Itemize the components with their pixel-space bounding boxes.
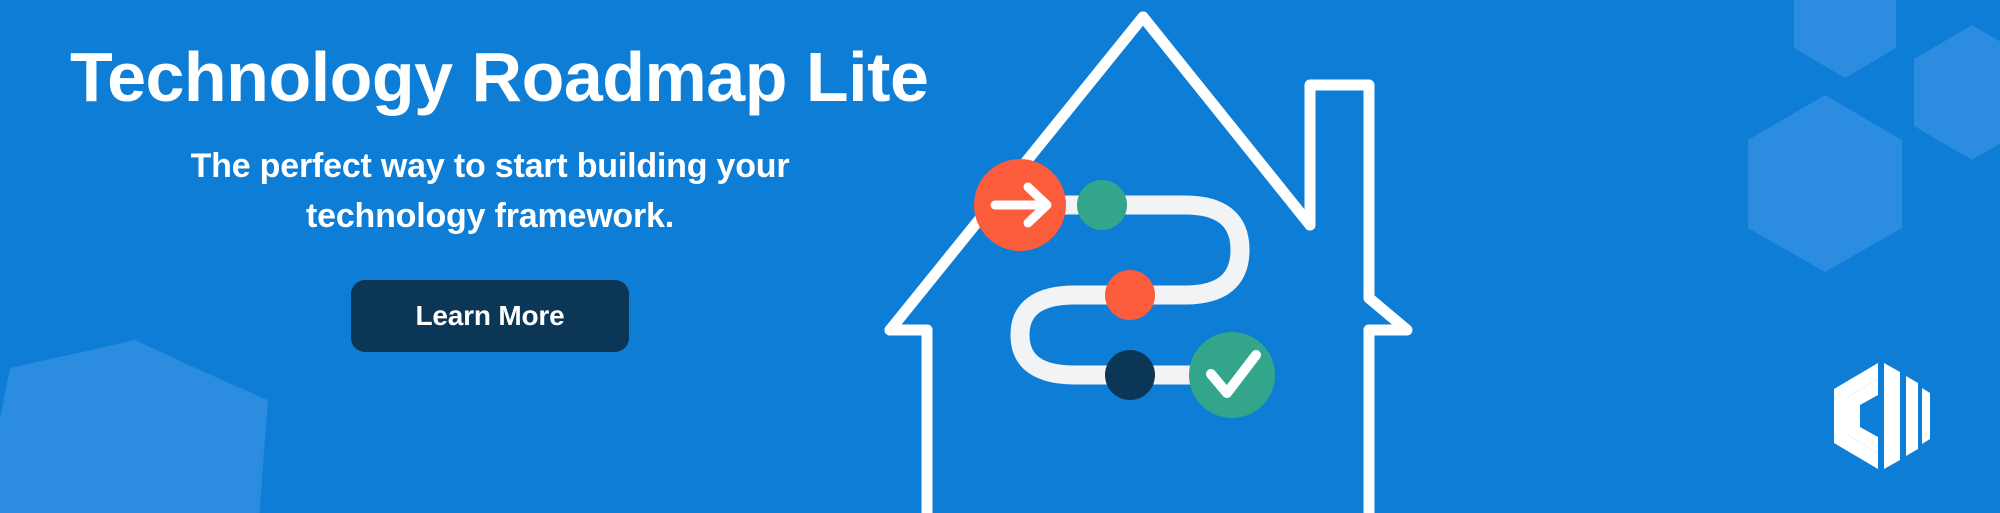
cta-container: Learn More	[70, 280, 910, 352]
hexagon-brand-logo	[1826, 355, 1936, 477]
subtitle: The perfect way to start building your t…	[70, 142, 910, 241]
orange-dot-node[interactable]	[1105, 270, 1155, 320]
green-dot-node[interactable]	[1077, 180, 1127, 230]
check-node[interactable]	[1189, 332, 1275, 418]
subtitle-line-2: technology framework.	[70, 192, 910, 242]
promo-banner: Technology Roadmap Lite The perfect way …	[0, 0, 2000, 513]
navy-dot-node[interactable]	[1105, 350, 1155, 400]
brand-mark-icon	[1834, 363, 1930, 469]
page-title: Technology Roadmap Lite	[70, 40, 928, 114]
learn-more-button[interactable]: Learn More	[351, 280, 629, 352]
banner-content: Technology Roadmap Lite The perfect way …	[0, 0, 990, 513]
subtitle-line-1: The perfect way to start building your	[191, 147, 790, 185]
